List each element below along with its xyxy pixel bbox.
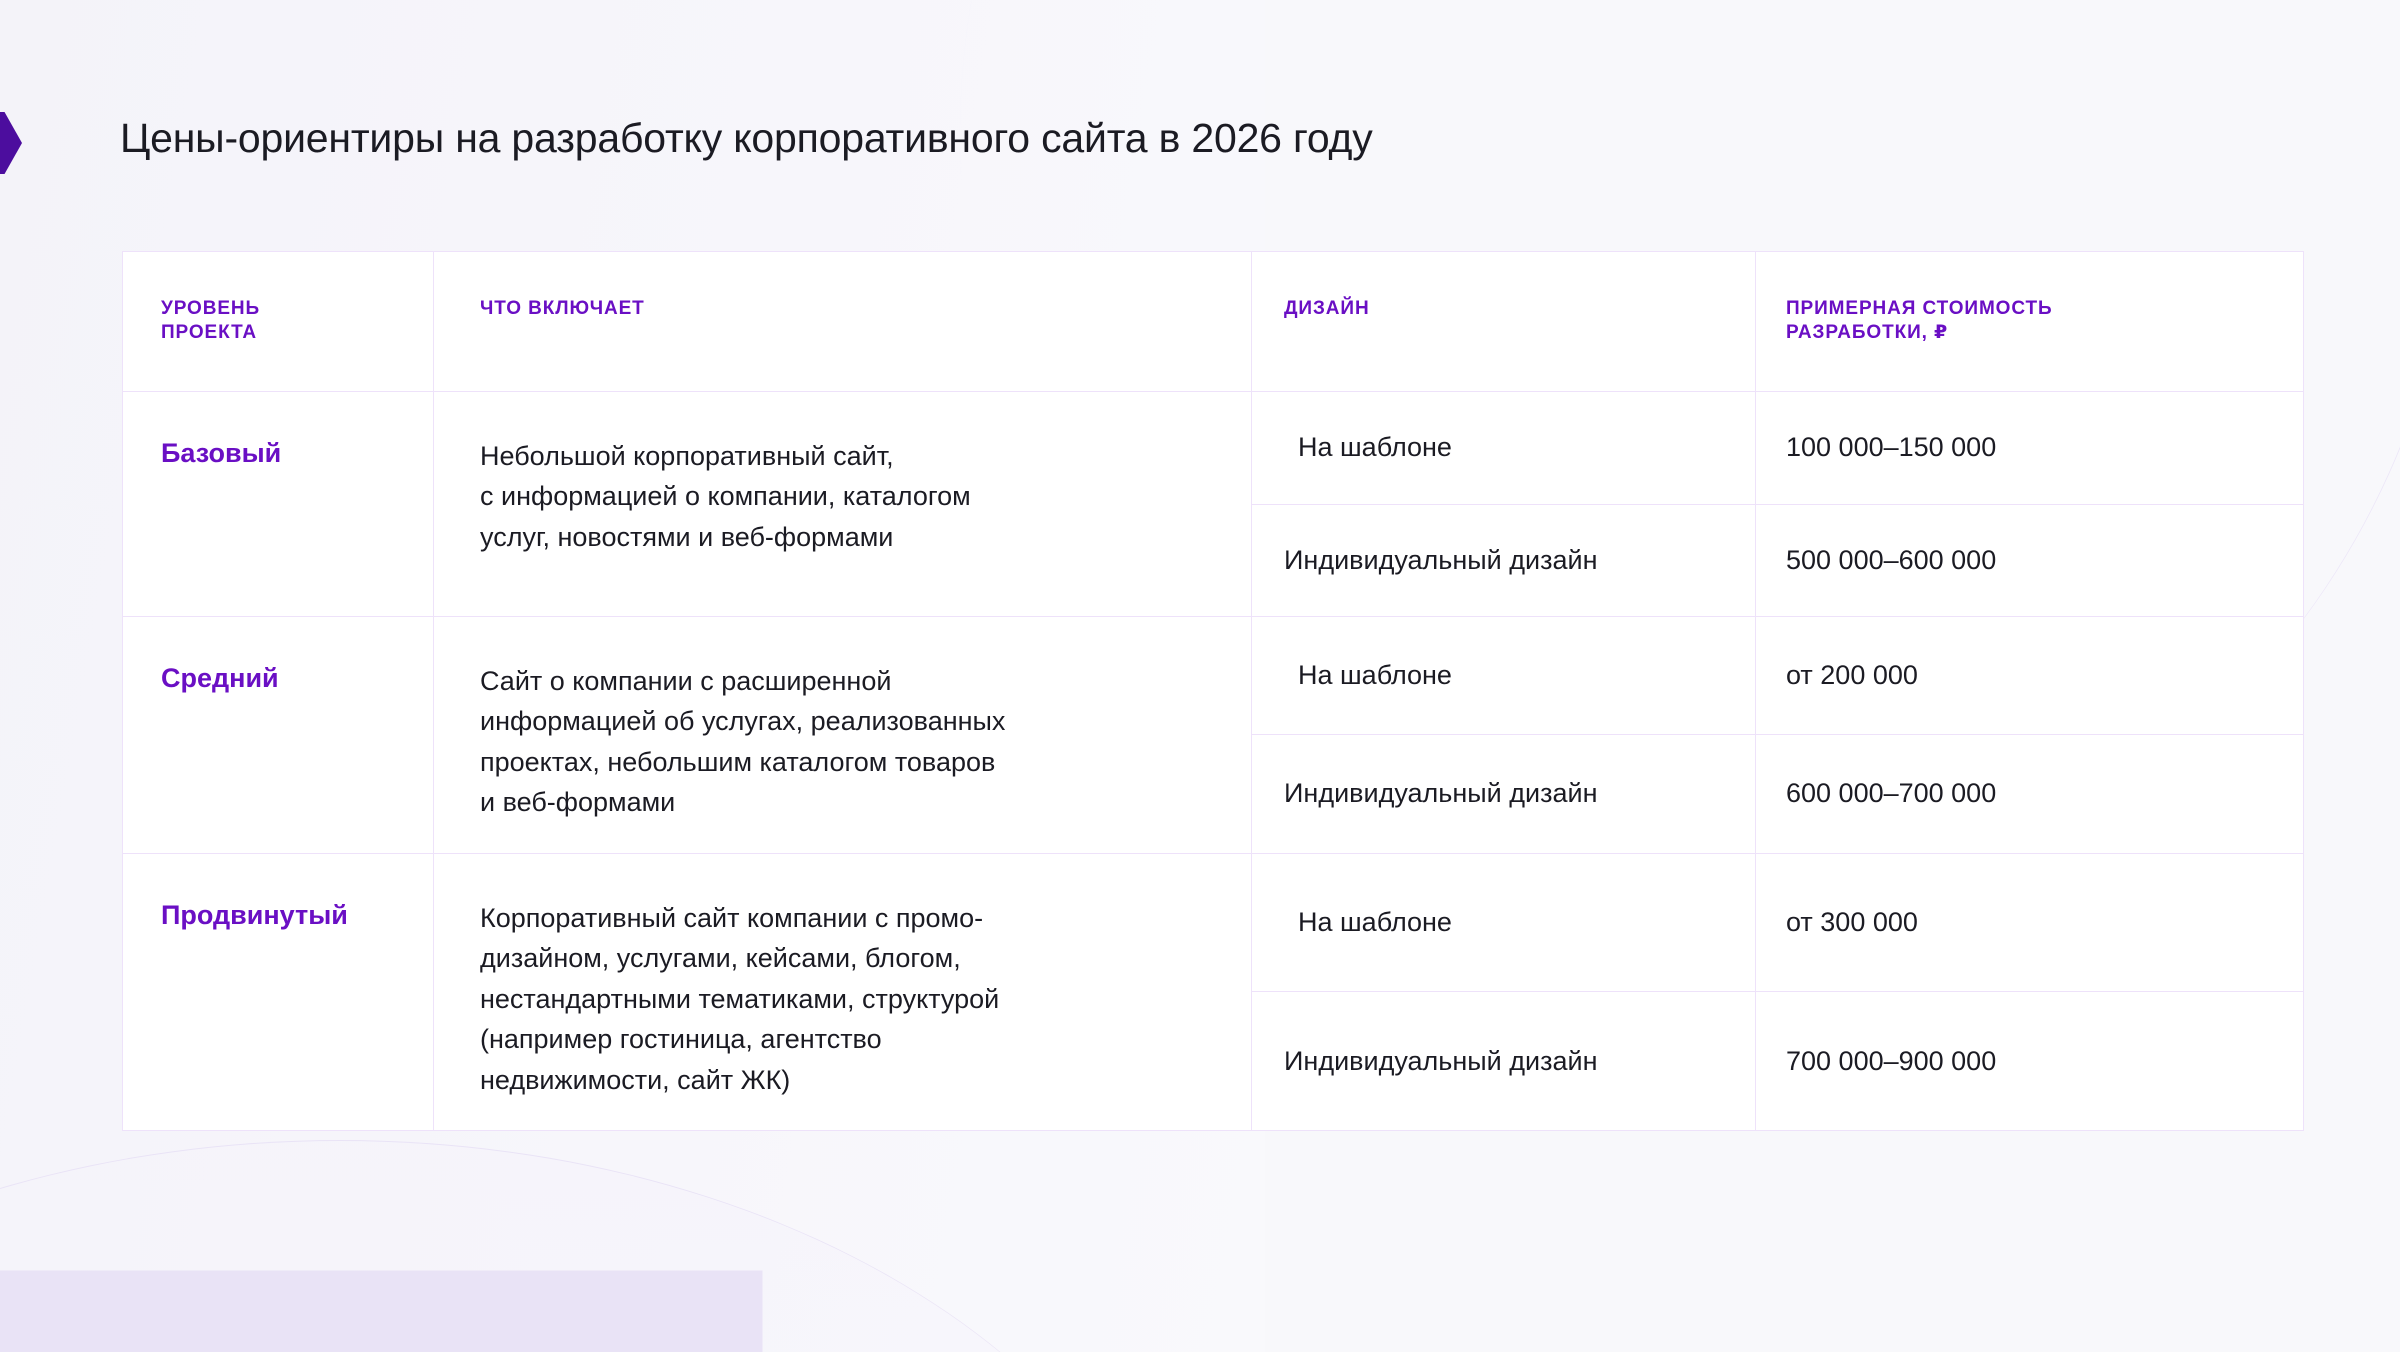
includes-line: проектах, небольшим каталогом товаров bbox=[480, 742, 1205, 783]
level-name: Средний bbox=[123, 617, 433, 716]
header-label-includes: ЧТО ВКЛЮЧАЕТ bbox=[480, 297, 645, 321]
includes-line: с информацией о компании, каталогом bbox=[480, 476, 1205, 517]
cell-options-group: На шаблоне 100 000–150 000 Индивидуальны… bbox=[1251, 392, 2303, 616]
option-subrow: На шаблоне 100 000–150 000 bbox=[1252, 392, 2303, 504]
includes-line: услуг, новостями и веб-формами bbox=[480, 517, 1205, 558]
option-subrow: На шаблоне от 200 000 bbox=[1252, 617, 2303, 735]
includes-line: Корпоративный сайт компании с промо- bbox=[480, 898, 1205, 939]
cell-includes: Сайт о компании с расширенной информацие… bbox=[433, 617, 1251, 853]
design-type: На шаблоне bbox=[1252, 887, 1755, 958]
table-row: Базовый Небольшой корпоративный сайт, с … bbox=[123, 391, 2303, 616]
design-type: Индивидуальный дизайн bbox=[1252, 1026, 1755, 1097]
design-type: На шаблоне bbox=[1252, 412, 1755, 483]
header-label-design: ДИЗАЙН bbox=[1284, 297, 1731, 321]
table-row: Средний Сайт о компании с расширенной ин… bbox=[123, 616, 2303, 853]
includes-line: и веб-формами bbox=[480, 782, 1205, 823]
header-label-price-line2: РАЗРАБОТКИ, ₽ bbox=[1786, 322, 1948, 343]
option-subrow: Индивидуальный дизайн 600 000–700 000 bbox=[1252, 734, 2303, 853]
includes-line: нестандартными тематиками, структурой bbox=[480, 979, 1205, 1020]
header-label-price: ПРИМЕРНАЯ СТОИМОСТЬ РАЗРАБОТКИ, ₽ bbox=[1786, 297, 2279, 346]
design-type: Индивидуальный дизайн bbox=[1252, 758, 1755, 829]
price-value: от 200 000 bbox=[1755, 617, 2303, 735]
header-label-level: УРОВЕНЬ ПРОЕКТА bbox=[161, 297, 260, 346]
level-name: Продвинутый bbox=[123, 854, 433, 953]
includes-line: (например гостиница, агентство bbox=[480, 1019, 1205, 1060]
header-cell-level: УРОВЕНЬ ПРОЕКТА bbox=[123, 252, 433, 391]
price-value: 700 000–900 000 bbox=[1755, 992, 2303, 1130]
header-cell-price: ПРИМЕРНАЯ СТОИМОСТЬ РАЗРАБОТКИ, ₽ bbox=[1755, 252, 2303, 391]
includes-text: Сайт о компании с расширенной информацие… bbox=[434, 617, 1251, 853]
includes-line: Сайт о компании с расширенной bbox=[480, 661, 1205, 702]
includes-line: Небольшой корпоративный сайт, bbox=[480, 436, 1205, 477]
includes-text: Корпоративный сайт компании с промо- диз… bbox=[434, 854, 1251, 1131]
background-curve-bottom bbox=[0, 1140, 1200, 1352]
price-value: 100 000–150 000 bbox=[1755, 392, 2303, 504]
table-header-row: УРОВЕНЬ ПРОЕКТА ЧТО ВКЛЮЧАЕТ ДИЗАЙН ПРИМ… bbox=[123, 252, 2303, 391]
cell-includes: Корпоративный сайт компании с промо- диз… bbox=[433, 854, 1251, 1131]
price-value: от 300 000 bbox=[1755, 854, 2303, 992]
includes-line: дизайном, услугами, кейсами, блогом, bbox=[480, 938, 1205, 979]
page-title: Цены-ориентиры на разработку корпоративн… bbox=[120, 113, 1373, 164]
header-label-level-line2: ПРОЕКТА bbox=[161, 322, 257, 343]
includes-line: недвижимости, сайт ЖК) bbox=[480, 1060, 1205, 1101]
cell-level: Средний bbox=[123, 617, 433, 853]
price-value: 500 000–600 000 bbox=[1755, 505, 2303, 616]
cell-level: Продвинутый bbox=[123, 854, 433, 1131]
option-subrow: Индивидуальный дизайн 500 000–600 000 bbox=[1252, 504, 2303, 616]
header-label-level-line1: УРОВЕНЬ bbox=[161, 298, 260, 319]
cell-options-group: На шаблоне от 200 000 Индивидуальный диз… bbox=[1251, 617, 2303, 853]
header-cell-right-group: ДИЗАЙН ПРИМЕРНАЯ СТОИМОСТЬ РАЗРАБОТКИ, ₽ bbox=[1251, 252, 2303, 391]
design-type: На шаблоне bbox=[1252, 640, 1755, 711]
price-table: УРОВЕНЬ ПРОЕКТА ЧТО ВКЛЮЧАЕТ ДИЗАЙН ПРИМ… bbox=[122, 251, 2304, 1131]
table-row: Продвинутый Корпоративный сайт компании … bbox=[123, 853, 2303, 1131]
cell-includes: Небольшой корпоративный сайт, с информац… bbox=[433, 392, 1251, 616]
level-name: Базовый bbox=[123, 392, 433, 491]
option-subrow: На шаблоне от 300 000 bbox=[1252, 854, 2303, 992]
cell-options-group: На шаблоне от 300 000 Индивидуальный диз… bbox=[1251, 854, 2303, 1131]
cell-level: Базовый bbox=[123, 392, 433, 616]
header-label-price-line1: ПРИМЕРНАЯ СТОИМОСТЬ bbox=[1786, 298, 2053, 319]
includes-text: Небольшой корпоративный сайт, с информац… bbox=[434, 392, 1251, 588]
header-cell-design: ДИЗАЙН bbox=[1252, 252, 1755, 391]
arrow-right-marker-icon bbox=[0, 112, 22, 174]
design-type: Индивидуальный дизайн bbox=[1252, 525, 1755, 596]
option-subrow: Индивидуальный дизайн 700 000–900 000 bbox=[1252, 991, 2303, 1130]
header-cell-includes: ЧТО ВКЛЮЧАЕТ bbox=[433, 252, 1251, 391]
includes-line: информацией об услугах, реализованных bbox=[480, 701, 1205, 742]
price-value: 600 000–700 000 bbox=[1755, 735, 2303, 853]
